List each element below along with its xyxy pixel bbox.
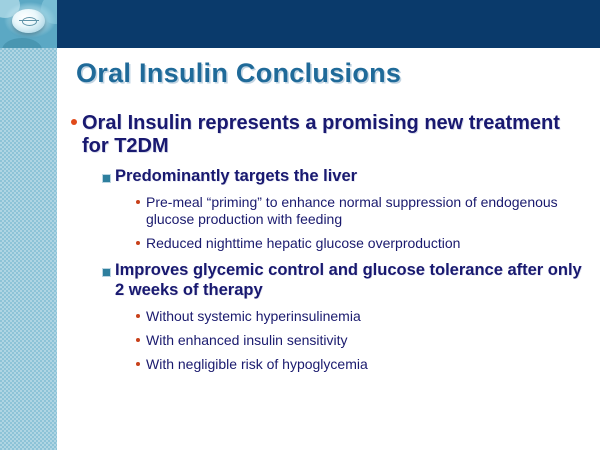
- bullet-dot-icon: [130, 235, 146, 245]
- bullet-level2: Predominantly targets the liver: [98, 167, 588, 187]
- page-title: Oral Insulin Conclusions: [76, 58, 401, 89]
- bullet-level3: Reduced nighttime hepatic glucose overpr…: [130, 235, 588, 252]
- bullet-text: Predominantly targets the liver: [115, 167, 357, 187]
- bullet-level3: With negligible risk of hypoglycemia: [130, 356, 588, 373]
- slide-body: Oral Insulin represents a promising new …: [66, 112, 588, 373]
- slide-canvas: Oral Insulin Conclusions Oral Insulin re…: [0, 0, 600, 450]
- bullet-level3: Pre-meal “priming” to enhance normal sup…: [130, 194, 588, 228]
- photo-shadow-blob: [2, 38, 42, 48]
- bullet-dot-icon: [130, 356, 146, 366]
- bullet-text: Improves glycemic control and glucose to…: [115, 261, 588, 301]
- bullet-text: With negligible risk of hypoglycemia: [146, 356, 368, 373]
- vial-cap-bar: [19, 20, 39, 21]
- bullet-dot-icon: [66, 112, 82, 125]
- bullet-text: Reduced nighttime hepatic glucose overpr…: [146, 235, 460, 252]
- vial-caps-photo: [0, 0, 57, 48]
- bullet-level3: With enhanced insulin sensitivity: [130, 332, 588, 349]
- bullet-text: Pre-meal “priming” to enhance normal sup…: [146, 194, 588, 228]
- bullet-level1: Oral Insulin represents a promising new …: [66, 112, 588, 158]
- header-band: [57, 0, 600, 48]
- bullet-text: Without systemic hyperinsulinemia: [146, 308, 361, 325]
- bullet-square-icon: [98, 167, 115, 183]
- bullet-text: Oral Insulin represents a promising new …: [82, 112, 588, 158]
- bullet-level3: Without systemic hyperinsulinemia: [130, 308, 588, 325]
- bullet-dot-icon: [130, 308, 146, 318]
- bullet-dot-icon: [130, 332, 146, 342]
- sidebar-texture: [0, 48, 57, 450]
- bullet-square-icon: [98, 261, 115, 277]
- bullet-dot-icon: [130, 194, 146, 204]
- bullet-text: With enhanced insulin sensitivity: [146, 332, 348, 349]
- bullet-level2: Improves glycemic control and glucose to…: [98, 261, 588, 301]
- vial-cap-notch: [22, 17, 37, 26]
